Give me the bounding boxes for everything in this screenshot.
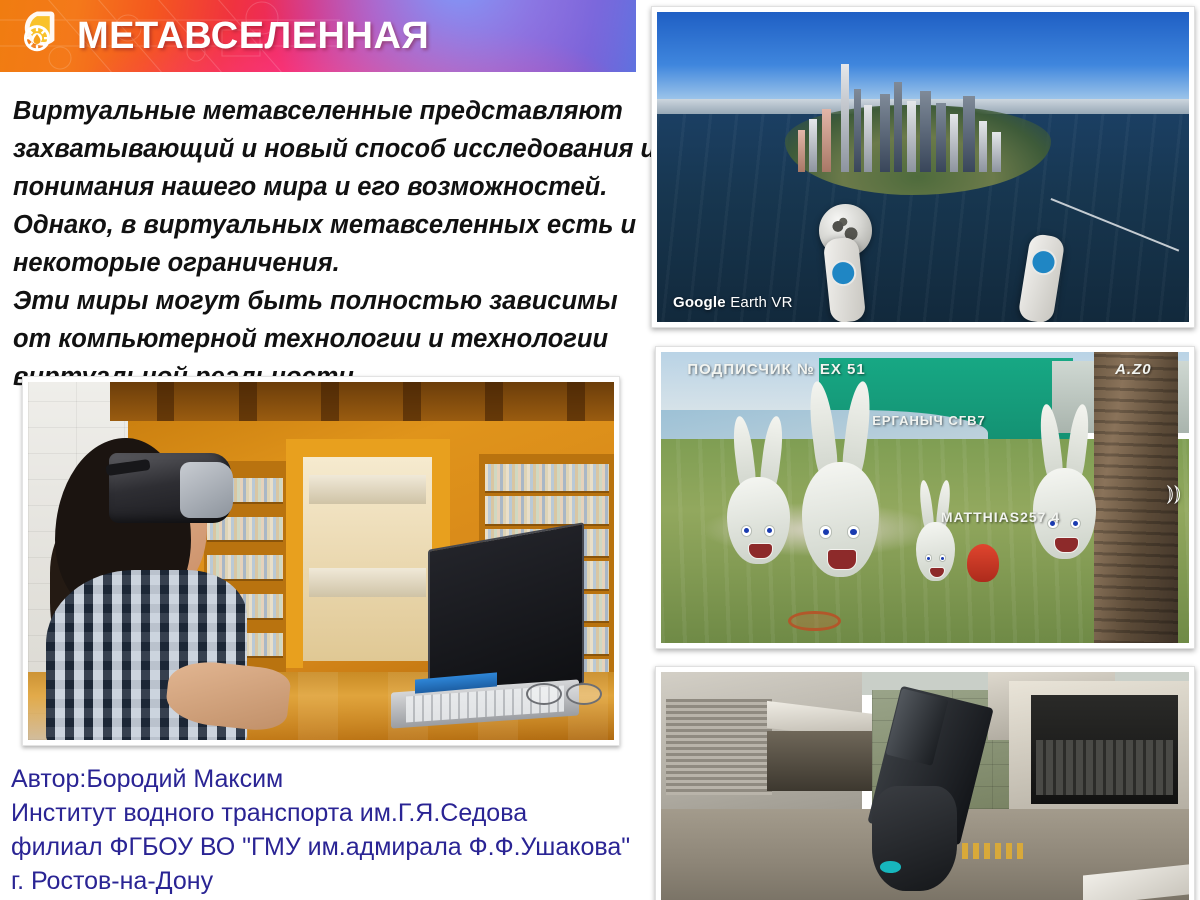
ceiling-beam	[567, 382, 585, 421]
ceiling-beam	[157, 382, 175, 421]
vr-headset-icon	[109, 453, 231, 522]
red-blob	[967, 544, 999, 582]
vr-faceplate	[180, 462, 234, 519]
body-text-line-1: Виртуальные метавселенные представляют	[13, 92, 629, 130]
author-credits: Автор:Бородий Максим Институт водного тр…	[11, 762, 671, 898]
google-earth-vr-content: Google Earth VR	[657, 12, 1189, 322]
player-tag-subscriber: ПОДПИСЧИК № EX 51	[687, 361, 865, 378]
photo-vr-woman-library-content	[28, 382, 614, 740]
inner-shelf	[309, 475, 426, 504]
author-line-branch: филиал ФГБОУ ВО "ГМУ им.адмирала Ф.Ф.Уша…	[11, 830, 671, 864]
slide-title: МЕТАВСЕЛЕННАЯ	[77, 9, 429, 63]
author-line-name: Автор:Бородий Максим	[11, 762, 671, 796]
image-google-earth-vr: Google Earth VR	[651, 6, 1195, 328]
rabbids-vr-content: ПОДПИСЧИК № EX 51 ЕРГАНЫЧ СГВ7 MATTHIAS2…	[661, 352, 1189, 643]
library-ceiling	[110, 382, 614, 421]
ceiling-beam	[403, 382, 421, 421]
wooden-pallet	[962, 843, 1025, 859]
eyeglasses	[526, 683, 602, 701]
rabbid-character	[1031, 404, 1100, 555]
body-text-line-3: понимания нашего мира и его возможностей…	[13, 168, 629, 206]
image-fps-vr-shooter	[655, 666, 1195, 900]
door-frame-top	[286, 439, 450, 457]
body-text-line-7: от компьютерной технологии и технологии	[13, 320, 629, 358]
fps-vr-shooter-content	[661, 672, 1189, 900]
vr-hand-controller[interactable]	[872, 786, 956, 891]
controller-trackpad[interactable]	[829, 259, 858, 288]
rabbid-character	[798, 381, 882, 573]
rabbid-character	[724, 416, 793, 562]
vr-strap	[106, 459, 151, 476]
door-frame-left	[286, 439, 304, 668]
wifi-icon: ⦆⦆	[1166, 480, 1181, 506]
slide-header-banner: МЕТАВСЕЛЕННАЯ	[0, 0, 636, 72]
google-earth-vr-watermark: Google Earth VR	[673, 294, 793, 311]
slide-body-text: Виртуальные метавселенные представляют з…	[13, 92, 629, 396]
watermark-brand: Google	[673, 294, 726, 311]
image-rabbids-vr: ПОДПИСЧИК № EX 51 ЕРГАНЫЧ СГВ7 MATTHIAS2…	[655, 346, 1195, 649]
author-line-institute: Институт водного транспорта им.Г.Я.Седов…	[11, 796, 671, 830]
watermark-product: Earth VR	[726, 294, 793, 311]
body-text-line-4: Однако, в виртуальных метавселенных есть…	[13, 206, 629, 244]
player-tag-azo: A.Z0	[1115, 361, 1152, 378]
author-line-city: г. Ростов-на-Дону	[11, 864, 671, 898]
ceiling-beam	[485, 382, 503, 421]
player-tag-erganych: ЕРГАНЫЧ СГВ7	[872, 413, 986, 428]
woman-with-vr-headset	[46, 425, 280, 740]
controller-trackpad[interactable]	[1029, 247, 1059, 277]
ceiling-beam	[239, 382, 257, 421]
player-tag-matthias: MATTHIAS257 4	[941, 509, 1060, 525]
inner-shelf	[309, 568, 426, 597]
controller-indicator-light	[880, 861, 901, 872]
rabbid-character	[914, 480, 956, 579]
photo-vr-woman-library	[22, 376, 620, 746]
presentation-slide: МЕТАВСЕЛЕННАЯ Виртуальные метавселенные …	[0, 0, 1200, 900]
truck-crate	[1036, 740, 1173, 795]
body-text-line-5: некоторые ограничения.	[13, 244, 629, 282]
gear-shield-logo-icon	[8, 8, 66, 66]
ceiling-beam	[321, 382, 339, 421]
roller-shutter	[666, 699, 772, 795]
body-text-line-6: Эти миры могут быть полностью зависимы	[13, 282, 629, 320]
body-text-line-2: захватывающий и новый способ исследовани…	[13, 130, 629, 168]
